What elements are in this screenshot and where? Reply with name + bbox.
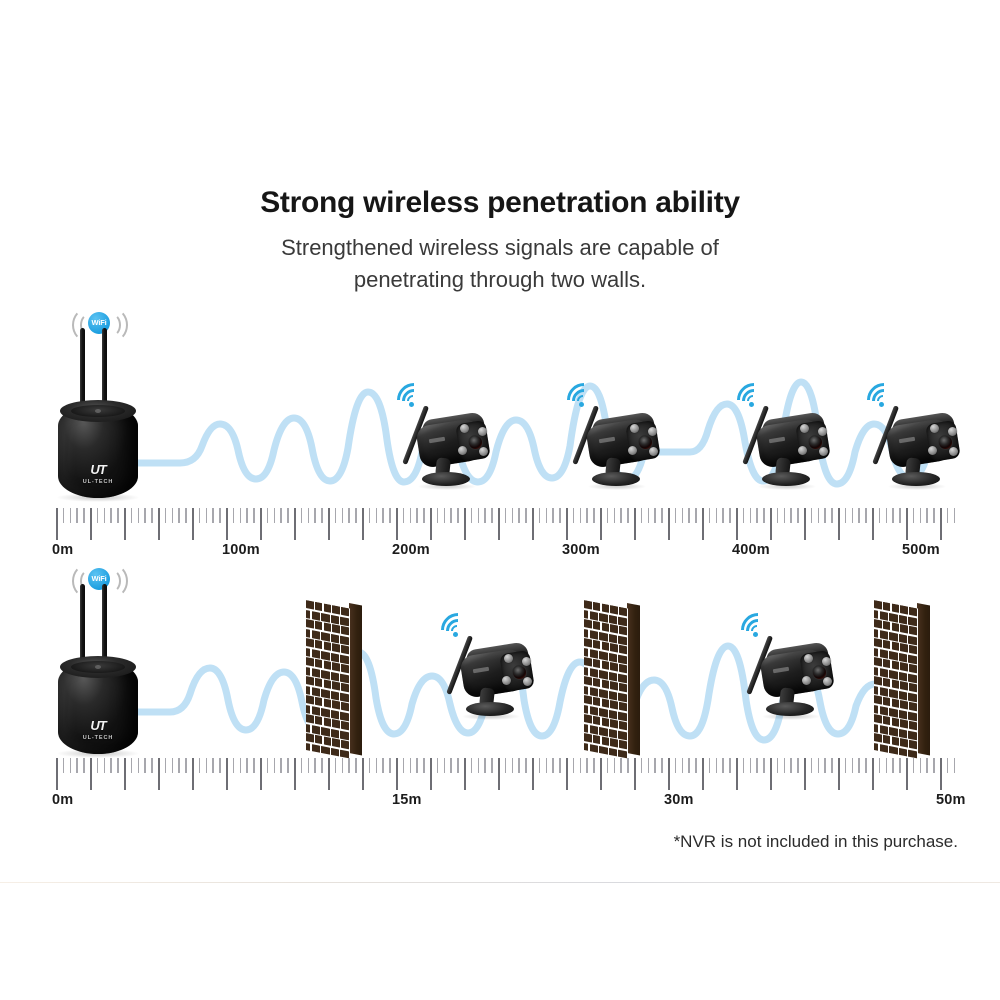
brick bbox=[892, 622, 900, 631]
brick bbox=[892, 641, 900, 650]
brick bbox=[312, 687, 320, 697]
brick bbox=[306, 667, 310, 676]
brick bbox=[883, 678, 891, 687]
ruler-tick-minor bbox=[491, 758, 492, 773]
brick bbox=[599, 650, 607, 660]
ruler-tick-minor bbox=[682, 758, 683, 773]
brick bbox=[892, 603, 900, 612]
ruler-tick-minor bbox=[525, 758, 526, 773]
brick bbox=[874, 648, 878, 657]
ruler-tick-minor bbox=[206, 758, 207, 773]
wifi-dot-icon bbox=[753, 632, 758, 637]
brick bbox=[321, 631, 329, 641]
brick bbox=[315, 678, 323, 687]
brick bbox=[900, 700, 908, 709]
ruler-tick-major bbox=[226, 758, 228, 790]
nvr-brand-name: UT bbox=[90, 718, 105, 733]
brick bbox=[584, 705, 588, 714]
brick bbox=[889, 726, 897, 736]
ruler-tick-major bbox=[804, 758, 806, 790]
brick bbox=[618, 673, 626, 683]
brick bbox=[584, 667, 588, 676]
brick bbox=[331, 633, 339, 643]
brick bbox=[883, 640, 891, 649]
ruler-tick-minor bbox=[552, 758, 553, 773]
ruler-tick-minor bbox=[178, 758, 179, 773]
brick bbox=[874, 657, 882, 666]
brick bbox=[900, 605, 908, 614]
brick bbox=[324, 641, 332, 650]
nvr-device-through-walls[interactable]: WiFi UT UL-TECH bbox=[52, 556, 144, 756]
ruler-tick-major bbox=[634, 758, 636, 790]
ruler-tick-minor bbox=[97, 758, 98, 773]
ruler-tick-minor bbox=[253, 758, 254, 773]
brick bbox=[593, 716, 601, 725]
brick bbox=[900, 719, 908, 728]
ruler-tick-major bbox=[328, 758, 330, 790]
brick bbox=[900, 681, 908, 690]
brick bbox=[331, 728, 339, 738]
ruler-tick-minor bbox=[117, 758, 118, 773]
ruler-tick-minor bbox=[444, 758, 445, 773]
ruler-tick-minor bbox=[790, 758, 791, 773]
ruler-tick-minor bbox=[457, 758, 458, 773]
brick bbox=[341, 664, 349, 673]
ruler-tick-minor bbox=[892, 758, 893, 773]
brick bbox=[584, 714, 592, 723]
ruler-tick-minor bbox=[818, 758, 819, 773]
ruler-tick-minor bbox=[886, 758, 887, 773]
brick bbox=[908, 654, 916, 664]
brick bbox=[883, 602, 891, 611]
brick bbox=[889, 612, 897, 622]
brick bbox=[341, 626, 349, 635]
brick bbox=[306, 648, 310, 657]
brick bbox=[908, 730, 916, 740]
brick bbox=[899, 614, 907, 624]
ruler-tick-minor bbox=[913, 758, 914, 773]
ruler-tick-minor bbox=[172, 758, 173, 773]
ruler-tick-minor bbox=[573, 758, 574, 773]
brick bbox=[321, 650, 329, 660]
brick bbox=[880, 687, 888, 697]
brick bbox=[909, 721, 917, 730]
brick bbox=[618, 730, 626, 740]
brick bbox=[892, 679, 900, 688]
brick bbox=[312, 630, 320, 640]
ruler-tick-minor bbox=[879, 758, 880, 773]
ruler-tick-major bbox=[90, 758, 92, 790]
brick bbox=[609, 652, 617, 662]
brick bbox=[331, 709, 339, 719]
ruler-tick-minor bbox=[641, 758, 642, 773]
brick bbox=[899, 652, 907, 662]
brick bbox=[306, 610, 310, 619]
ruler-tick-major bbox=[362, 758, 364, 790]
brick-wall-face bbox=[584, 600, 628, 759]
brick bbox=[874, 638, 882, 647]
wifi-dot-icon bbox=[453, 632, 458, 637]
brick bbox=[599, 669, 607, 679]
brick bbox=[909, 645, 917, 654]
brick bbox=[880, 706, 888, 716]
brick bbox=[892, 736, 900, 745]
ruler-tick-minor bbox=[607, 758, 608, 773]
wifi-signal-icon bbox=[438, 608, 478, 638]
camera-lens-icon bbox=[512, 665, 527, 680]
ruler-tick-minor bbox=[675, 758, 676, 773]
ruler-tick-minor bbox=[450, 758, 451, 773]
brick bbox=[315, 640, 323, 649]
brick bbox=[306, 600, 314, 609]
brick bbox=[889, 631, 897, 641]
ruler-tick-minor bbox=[240, 758, 241, 773]
brick bbox=[599, 688, 607, 698]
ruler-tick-minor bbox=[151, 758, 152, 773]
ruler-tick-major bbox=[294, 758, 296, 790]
ruler-tick-minor bbox=[267, 758, 268, 773]
brick bbox=[908, 635, 916, 645]
ruler-tick-minor bbox=[505, 758, 506, 773]
brick bbox=[892, 717, 900, 726]
ruler-tick-minor bbox=[165, 758, 166, 773]
ruler-tick-minor bbox=[212, 758, 213, 773]
brick bbox=[599, 726, 607, 736]
ruler-tick-minor bbox=[512, 758, 513, 773]
camera-ir-led bbox=[522, 657, 531, 666]
brick bbox=[619, 664, 627, 673]
brick bbox=[874, 705, 878, 714]
brick bbox=[584, 676, 592, 685]
ruler-tick-major bbox=[56, 758, 58, 790]
brick bbox=[619, 721, 627, 730]
brick bbox=[880, 725, 888, 735]
brick bbox=[900, 624, 908, 633]
ruler-tick-minor bbox=[219, 758, 220, 773]
ruler-tick-major bbox=[702, 758, 704, 790]
brick bbox=[584, 610, 588, 619]
nvr-brand-sub: UL-TECH bbox=[52, 733, 144, 744]
brick bbox=[900, 662, 908, 671]
ruler-tick-minor bbox=[104, 758, 105, 773]
brick-wall-face bbox=[306, 600, 350, 759]
brick bbox=[340, 711, 348, 721]
ruler-tick-minor bbox=[423, 758, 424, 773]
ruler-tick-major bbox=[464, 758, 466, 790]
brick bbox=[341, 645, 349, 654]
brick bbox=[892, 698, 900, 707]
brick bbox=[306, 695, 314, 704]
ruler-tick-minor bbox=[559, 758, 560, 773]
brick bbox=[306, 724, 310, 733]
ruler-tick-minor bbox=[947, 758, 948, 773]
brick bbox=[908, 711, 916, 721]
ruler-tick-minor bbox=[478, 758, 479, 773]
brick bbox=[593, 678, 601, 687]
brick bbox=[584, 619, 592, 628]
brick bbox=[610, 700, 618, 709]
brick bbox=[324, 603, 332, 612]
ruler-tick-minor bbox=[410, 758, 411, 773]
brick bbox=[610, 624, 618, 633]
brick bbox=[609, 671, 617, 681]
ruler-tick-minor bbox=[797, 758, 798, 773]
ruler-tick-minor bbox=[274, 758, 275, 773]
ruler-tick-minor bbox=[437, 758, 438, 773]
ruler-tick-minor bbox=[743, 758, 744, 773]
brick bbox=[590, 668, 598, 678]
brick bbox=[324, 717, 332, 726]
brick bbox=[306, 629, 310, 638]
brick bbox=[332, 700, 340, 709]
brick bbox=[341, 721, 349, 730]
camera-ir-led bbox=[523, 677, 532, 686]
brick bbox=[609, 709, 617, 719]
brick bbox=[312, 706, 320, 716]
brick bbox=[332, 643, 340, 652]
brick bbox=[874, 629, 878, 638]
ruler-tick-minor bbox=[144, 758, 145, 773]
ruler-tick-minor bbox=[899, 758, 900, 773]
brick bbox=[610, 643, 618, 652]
brick bbox=[618, 654, 626, 664]
brick-wall-1 bbox=[306, 600, 364, 750]
brick bbox=[610, 662, 618, 671]
brick bbox=[312, 611, 320, 621]
brick bbox=[584, 733, 592, 742]
brick bbox=[321, 612, 329, 622]
ruler-tick-minor bbox=[845, 758, 846, 773]
brick bbox=[340, 673, 348, 683]
ruler-tick-minor bbox=[233, 758, 234, 773]
brick bbox=[883, 697, 891, 706]
ruler-tick-minor bbox=[76, 758, 77, 773]
ruler-tick-minor bbox=[199, 758, 200, 773]
brick bbox=[324, 679, 332, 688]
ruler-tick-minor bbox=[763, 758, 764, 773]
ruler-label: 0m bbox=[52, 792, 73, 808]
ruler-tick-minor bbox=[83, 758, 84, 773]
ruler-tick-major bbox=[940, 758, 942, 790]
brick bbox=[889, 650, 897, 660]
ruler-label: 30m bbox=[664, 792, 694, 808]
brick bbox=[315, 716, 323, 725]
brick bbox=[880, 649, 888, 659]
brick bbox=[908, 692, 916, 702]
brick bbox=[909, 664, 917, 673]
brick bbox=[312, 725, 320, 735]
ruler-tick-major bbox=[872, 758, 874, 790]
brick bbox=[306, 638, 314, 647]
brick bbox=[618, 635, 626, 645]
ruler-tick-minor bbox=[695, 758, 696, 773]
distance-ruler-through-walls: 0m15m30m50m bbox=[56, 758, 956, 810]
ruler-tick-minor bbox=[110, 758, 111, 773]
brick bbox=[341, 702, 349, 711]
brick bbox=[874, 743, 878, 752]
brick-wall-3 bbox=[874, 600, 932, 750]
brick bbox=[609, 690, 617, 700]
brick bbox=[619, 683, 627, 692]
brick bbox=[332, 662, 340, 671]
ruler-tick-minor bbox=[138, 758, 139, 773]
brick bbox=[599, 631, 607, 641]
brick bbox=[874, 686, 878, 695]
brick bbox=[584, 695, 592, 704]
brick bbox=[610, 738, 618, 747]
ruler-tick-minor bbox=[131, 758, 132, 773]
ruler-tick-minor bbox=[586, 758, 587, 773]
ruler-tick-major bbox=[124, 758, 126, 790]
brick bbox=[590, 630, 598, 640]
ruler-tick-minor bbox=[716, 758, 717, 773]
ruler-tick-minor bbox=[471, 758, 472, 773]
ruler-tick-minor bbox=[933, 758, 934, 773]
brick bbox=[610, 719, 618, 728]
brick bbox=[312, 649, 320, 659]
ruler-tick-major bbox=[566, 758, 568, 790]
brick bbox=[909, 607, 917, 616]
brick bbox=[593, 621, 601, 630]
brick bbox=[900, 643, 908, 652]
brick bbox=[324, 698, 332, 707]
brick bbox=[584, 686, 588, 695]
nvr-ground-shadow bbox=[56, 749, 140, 758]
ruler-tick-minor bbox=[246, 758, 247, 773]
brick bbox=[618, 692, 626, 702]
ruler-tick-major bbox=[498, 758, 500, 790]
brick bbox=[602, 622, 610, 631]
brick bbox=[609, 728, 617, 738]
ruler-tick-major bbox=[158, 758, 160, 790]
brick bbox=[899, 633, 907, 643]
camera-6[interactable] bbox=[736, 608, 840, 726]
brick bbox=[340, 616, 348, 626]
brick bbox=[306, 619, 314, 628]
brick bbox=[324, 660, 332, 669]
brick bbox=[899, 690, 907, 700]
ruler-label: 15m bbox=[392, 792, 422, 808]
ruler-tick-major bbox=[532, 758, 534, 790]
brick bbox=[332, 605, 340, 614]
brick bbox=[340, 730, 348, 740]
brick bbox=[619, 607, 627, 616]
brick bbox=[341, 683, 349, 692]
ruler-tick-minor bbox=[852, 758, 853, 773]
brick bbox=[909, 683, 917, 692]
brick bbox=[609, 633, 617, 643]
brick bbox=[321, 726, 329, 736]
ruler-tick-minor bbox=[355, 758, 356, 773]
brick bbox=[619, 702, 627, 711]
ruler-tick-minor bbox=[185, 758, 186, 773]
ruler-tick-minor bbox=[335, 758, 336, 773]
ruler-tick-minor bbox=[593, 758, 594, 773]
brick bbox=[602, 736, 610, 745]
brick bbox=[618, 616, 626, 626]
wifi-badge-icon: WiFi bbox=[68, 562, 128, 598]
camera-ir-led bbox=[504, 654, 513, 663]
ruler-tick-minor bbox=[369, 758, 370, 773]
brick bbox=[909, 702, 917, 711]
brick bbox=[599, 612, 607, 622]
ruler-tick-minor bbox=[301, 758, 302, 773]
ruler-tick-minor bbox=[729, 758, 730, 773]
brick bbox=[340, 635, 348, 645]
brick bbox=[602, 603, 610, 612]
brick bbox=[306, 743, 310, 752]
brick bbox=[340, 692, 348, 702]
brick bbox=[889, 669, 897, 679]
brick bbox=[332, 681, 340, 690]
brick bbox=[593, 640, 601, 649]
brick bbox=[618, 711, 626, 721]
brick bbox=[610, 605, 618, 614]
brick bbox=[321, 669, 329, 679]
nvr-led-icon bbox=[95, 665, 101, 669]
brick bbox=[584, 629, 588, 638]
ruler-tick-minor bbox=[654, 758, 655, 773]
brick bbox=[874, 676, 882, 685]
brick bbox=[874, 667, 878, 676]
brick bbox=[341, 740, 349, 749]
brick bbox=[619, 645, 627, 654]
brick bbox=[883, 735, 891, 744]
brick bbox=[321, 707, 329, 717]
ruler-tick-minor bbox=[280, 758, 281, 773]
brick bbox=[312, 668, 320, 678]
ruler-tick-minor bbox=[546, 758, 547, 773]
camera-5[interactable] bbox=[436, 608, 540, 726]
ruler-tick-minor bbox=[308, 758, 309, 773]
ruler-tick-major bbox=[736, 758, 738, 790]
ruler-tick-minor bbox=[709, 758, 710, 773]
brick bbox=[584, 743, 588, 752]
brick bbox=[900, 738, 908, 747]
ruler-tick-minor bbox=[824, 758, 825, 773]
ruler-tick-major bbox=[838, 758, 840, 790]
brick bbox=[908, 673, 916, 683]
ruler-tick-minor bbox=[614, 758, 615, 773]
brick bbox=[584, 648, 588, 657]
section-divider bbox=[0, 882, 1000, 883]
brick bbox=[590, 611, 598, 621]
brick bbox=[883, 716, 891, 725]
brick bbox=[593, 602, 601, 611]
ruler-tick-minor bbox=[858, 758, 859, 773]
ruler-tick-minor bbox=[954, 758, 955, 773]
brick bbox=[306, 733, 314, 742]
brick bbox=[899, 671, 907, 681]
ruler-tick-minor bbox=[926, 758, 927, 773]
camera-ir-led bbox=[822, 657, 831, 666]
brick bbox=[609, 614, 617, 624]
brick bbox=[590, 725, 598, 735]
brick-wall-side bbox=[349, 603, 362, 756]
brick bbox=[331, 671, 339, 681]
brick bbox=[874, 600, 882, 609]
brick bbox=[599, 707, 607, 717]
brick bbox=[883, 659, 891, 668]
brick bbox=[584, 638, 592, 647]
brick bbox=[315, 659, 323, 668]
ruler-tick-minor bbox=[484, 758, 485, 773]
brick bbox=[602, 717, 610, 726]
ruler-tick-minor bbox=[722, 758, 723, 773]
brick bbox=[306, 686, 310, 695]
brick bbox=[321, 688, 329, 698]
ruler-tick-major bbox=[600, 758, 602, 790]
